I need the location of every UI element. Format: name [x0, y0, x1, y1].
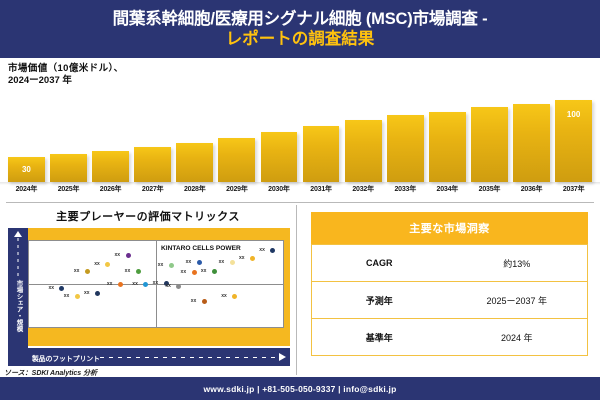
- matrix-y-axis-band: 市場シェア・規模: [8, 228, 28, 366]
- x-axis-dashed-line: [100, 357, 276, 358]
- key-market-insights-panel: 主要な市場洞察 CAGR約13%予測年2025ー2037 年基準年2024 年: [311, 212, 588, 356]
- matrix-data-point-label: xx: [125, 268, 131, 274]
- bar: [471, 107, 508, 182]
- matrix-data-point-label: xx: [74, 268, 80, 274]
- bar-column: 100: [555, 96, 592, 182]
- x-axis-tick-label: 2034年: [429, 184, 466, 194]
- bar-column: [471, 96, 508, 182]
- matrix-x-axis-band: 製品のフットプリント: [8, 348, 290, 366]
- matrix-data-point-label: xx: [191, 298, 197, 304]
- market-value-chart: 市場価値（10億米ドル）、 2024ー2037 年 30100 2024年202…: [0, 58, 600, 202]
- bar: [50, 154, 87, 182]
- footer-contact-text: www.sdki.jp | +81-505-050-9337 | info@sd…: [204, 384, 397, 394]
- matrix-data-point-label: xx: [115, 252, 121, 258]
- chart-title-line2: 2024ー2037 年: [8, 75, 592, 87]
- bar-value-label: 100: [555, 110, 592, 119]
- matrix-data-point-label: xx: [107, 281, 113, 287]
- matrix-data-point-label: xx: [165, 283, 171, 289]
- bar-column: [218, 96, 255, 182]
- x-axis-tick-label: 2031年: [303, 184, 340, 194]
- bar: [429, 112, 466, 182]
- page-title-line2: レポートの調査結果: [226, 29, 375, 49]
- matrix-data-point-label: xx: [259, 247, 265, 253]
- matrix-data-point-label: xx: [239, 255, 245, 261]
- matrix-data-point: [95, 291, 100, 296]
- insights-table: CAGR約13%予測年2025ー2037 年基準年2024 年: [311, 244, 588, 356]
- matrix-data-point-label: xx: [64, 293, 70, 299]
- x-axis-tick-label: 2029年: [218, 184, 255, 194]
- matrix-data-point: [59, 286, 64, 291]
- x-axis-tick-label: 2030年: [261, 184, 298, 194]
- matrix-data-point-label: xx: [153, 280, 159, 286]
- insights-row-value: 2024 年: [446, 319, 587, 356]
- insights-row: 予測年2025ー2037 年: [312, 282, 588, 319]
- matrix-scatter-plot: KINTARO CELLS POWER xxxxxxxxxxxxxxxxxxxx…: [28, 240, 284, 328]
- bar-column: [513, 96, 550, 182]
- bar-column: [261, 96, 298, 182]
- insights-row-key: 基準年: [312, 319, 447, 356]
- page-footer: www.sdki.jp | +81-505-050-9337 | info@sd…: [0, 377, 600, 400]
- matrix-data-point: [136, 269, 141, 274]
- player-matrix-panel: 主要プレーヤーの評価マトリックス 新興のリーダー スター 参加者 普及プレーヤー…: [0, 203, 296, 375]
- matrix-data-point: [85, 269, 90, 274]
- matrix-data-point: [197, 260, 202, 265]
- y-axis-dashed-line: [18, 238, 19, 276]
- matrix-data-point-label: xx: [48, 285, 54, 291]
- matrix-data-point: [192, 270, 197, 275]
- matrix-data-point: [143, 282, 148, 287]
- insights-row-key: 予測年: [312, 282, 447, 319]
- bar: [345, 120, 382, 182]
- matrix-data-point: [75, 294, 80, 299]
- matrix-data-point: [250, 256, 255, 261]
- vertical-divider: [296, 205, 297, 375]
- matrix-data-point: [270, 248, 275, 253]
- matrix-data-point: [105, 262, 110, 267]
- chart-x-axis: 2024年2025年2026年2027年2028年2029年2030年2031年…: [8, 184, 592, 194]
- matrix-data-point: [126, 253, 131, 258]
- matrix-y-axis-label: 市場シェア・規模: [13, 280, 23, 332]
- matrix-data-point-label: xx: [132, 281, 138, 287]
- x-axis-tick-label: 2028年: [176, 184, 213, 194]
- bar-column: [345, 96, 382, 182]
- x-axis-tick-label: 2035年: [471, 184, 508, 194]
- x-axis-tick-label: 2024年: [8, 184, 45, 194]
- x-axis-tick-label: 2036年: [513, 184, 550, 194]
- insights-row: 基準年2024 年: [312, 319, 588, 356]
- bar-column: [92, 96, 129, 182]
- insights-row-value: 2025ー2037 年: [446, 282, 587, 319]
- bar-column: [134, 96, 171, 182]
- highlighted-company-label: KINTARO CELLS POWER: [161, 245, 241, 252]
- matrix-data-point: [212, 269, 217, 274]
- matrix-data-point-label: xx: [186, 259, 192, 265]
- matrix-data-point-label: xx: [84, 290, 90, 296]
- bar: [513, 104, 550, 182]
- matrix-data-point: [176, 284, 181, 289]
- matrix-data-point-label: xx: [219, 259, 225, 265]
- bar-column: 30: [8, 96, 45, 182]
- bar: 30: [8, 157, 45, 182]
- x-axis-tick-label: 2026年: [92, 184, 129, 194]
- page-header: 間葉系幹細胞/医療用シグナル細胞 (MSC)市場調査 - レポートの調査結果: [0, 0, 600, 58]
- matrix-data-point: [232, 294, 237, 299]
- bar: 100: [555, 100, 592, 182]
- insights-row-key: CAGR: [312, 245, 447, 282]
- bar: [303, 126, 340, 182]
- bar: [176, 143, 213, 182]
- x-axis-tick-label: 2027年: [134, 184, 171, 194]
- matrix-data-point: [118, 282, 123, 287]
- bar: [218, 138, 255, 182]
- matrix-data-point-label: xx: [94, 261, 100, 267]
- bar-column: [387, 96, 424, 182]
- bar: [92, 151, 129, 182]
- chart-title: 市場価値（10億米ドル）、 2024ー2037 年: [8, 63, 592, 87]
- x-axis-tick-label: 2033年: [387, 184, 424, 194]
- bar: [387, 115, 424, 182]
- matrix-data-point-label: xx: [221, 293, 227, 299]
- chart-title-line1: 市場価値（10億米ドル）、: [8, 63, 592, 75]
- matrix-data-point: [230, 260, 235, 265]
- page-title-line1: 間葉系幹細胞/医療用シグナル細胞 (MSC)市場調査 -: [113, 9, 488, 29]
- bar-column: [50, 96, 87, 182]
- x-axis-tick-label: 2025年: [50, 184, 87, 194]
- matrix-data-point: [169, 263, 174, 268]
- bar-column: [429, 96, 466, 182]
- insights-row: CAGR約13%: [312, 245, 588, 282]
- bar-column: [303, 96, 340, 182]
- matrix-data-point-label: xx: [201, 268, 207, 274]
- arrow-right-icon: [279, 353, 286, 361]
- bar-column: [176, 96, 213, 182]
- bar: [261, 132, 298, 182]
- bar: [134, 147, 171, 182]
- x-axis-tick-label: 2032年: [345, 184, 382, 194]
- insights-heading: 主要な市場洞察: [311, 212, 588, 244]
- matrix-data-point-label: xx: [181, 269, 187, 275]
- bar-value-label: 30: [8, 165, 45, 174]
- insights-row-value: 約13%: [446, 245, 587, 282]
- x-axis-tick-label: 2037年: [555, 184, 592, 194]
- arrow-up-icon: [14, 231, 22, 237]
- matrix-data-point: [202, 299, 207, 304]
- matrix-heading: 主要プレーヤーの評価マトリックス: [0, 203, 296, 224]
- bar-series: 30100: [8, 96, 592, 182]
- matrix-x-axis-label: 製品のフットプリント: [32, 353, 100, 363]
- chart-plot-area: 30100: [8, 96, 592, 182]
- matrix-data-point-label: xx: [158, 262, 164, 268]
